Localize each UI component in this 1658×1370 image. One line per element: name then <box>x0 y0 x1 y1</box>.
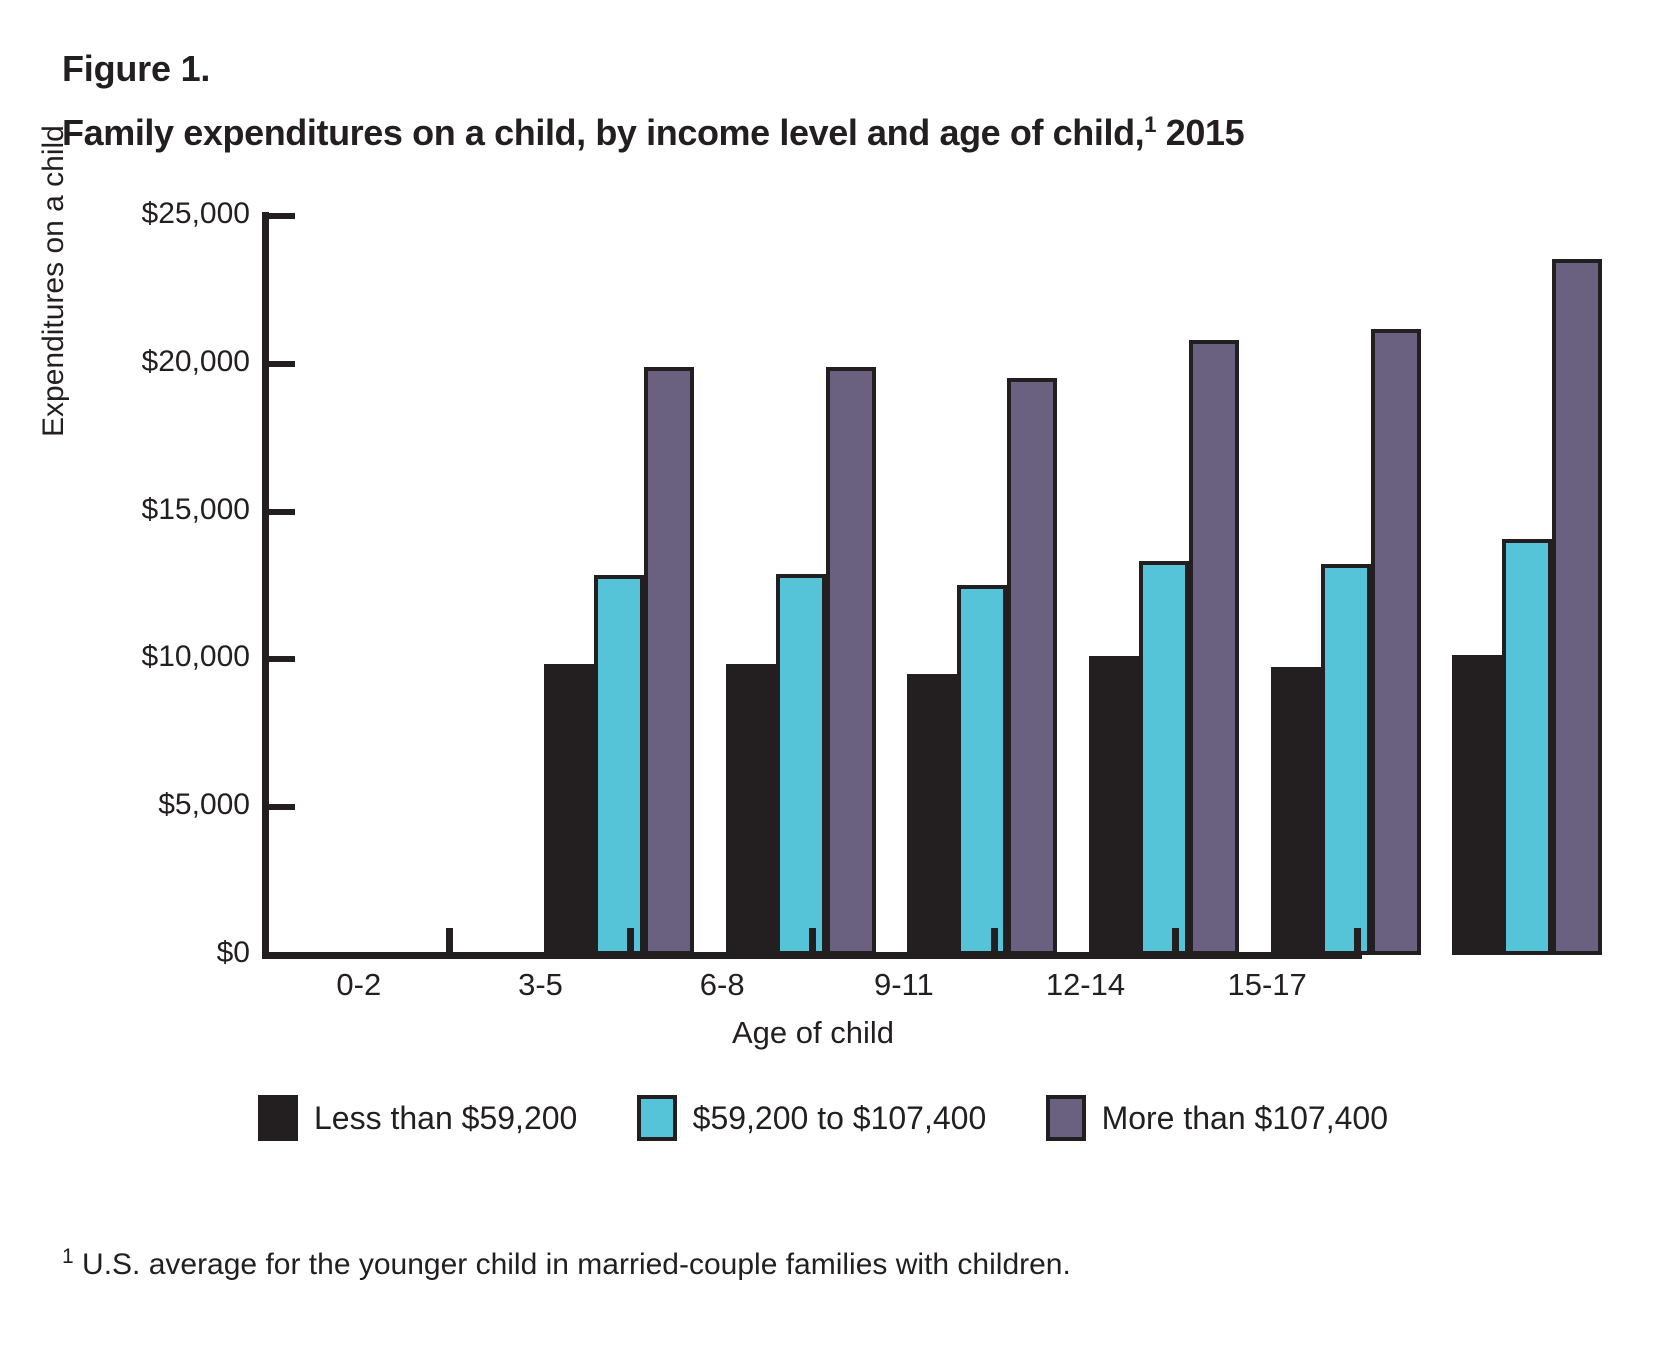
x-axis-group-label: 9-11 <box>813 967 995 1003</box>
footnote-text: U.S. average for the younger child in ma… <box>74 1248 1071 1281</box>
footnote-marker: 1 <box>62 1245 74 1268</box>
legend-item-label: $59,200 to $107,400 <box>693 1100 987 1137</box>
x-axis-tick <box>991 928 998 954</box>
bar <box>1189 340 1239 955</box>
bar <box>1371 329 1421 955</box>
y-axis-tick-label: $5,000 <box>110 788 250 822</box>
bar <box>726 664 776 955</box>
chart-legend: Less than $59,200$59,200 to $107,400More… <box>258 1088 1388 1148</box>
bar <box>644 367 694 955</box>
y-axis-tick-label: $20,000 <box>110 345 250 379</box>
legend-item: Less than $59,200 <box>258 1095 577 1141</box>
bar <box>1089 656 1139 955</box>
figure-footnote: 1 U.S. average for the younger child in … <box>62 1245 1071 1282</box>
x-axis-tick <box>1172 928 1179 954</box>
y-axis-tick <box>269 952 295 958</box>
bar <box>1502 539 1552 955</box>
y-axis-title: Expenditures on a child <box>37 397 71 437</box>
bar <box>1271 667 1321 955</box>
x-axis-tick <box>1354 928 1361 954</box>
bar <box>957 585 1007 955</box>
x-axis-tick <box>446 928 453 954</box>
x-axis-tick <box>809 928 816 954</box>
bar <box>1321 564 1371 955</box>
x-axis-title: Age of child <box>268 1015 1358 1051</box>
bar <box>544 664 594 955</box>
bar <box>594 575 644 955</box>
y-axis-tick <box>269 509 295 515</box>
bar <box>826 367 876 955</box>
bar-chart: $0$5,000$10,000$15,000$20,000$25,0000-23… <box>0 0 1658 1370</box>
y-axis-tick <box>269 804 295 810</box>
legend-item: More than $107,400 <box>1046 1095 1388 1141</box>
plot-area <box>268 216 1358 955</box>
y-axis-tick-label: $25,000 <box>110 197 250 231</box>
bar <box>776 574 826 955</box>
y-axis-tick <box>269 213 295 219</box>
legend-item-label: Less than $59,200 <box>314 1100 577 1137</box>
y-axis-tick <box>269 656 295 662</box>
y-axis-tick-label: $15,000 <box>110 493 250 527</box>
legend-item: $59,200 to $107,400 <box>637 1095 987 1141</box>
bar <box>907 674 957 955</box>
x-axis-group-label: 6-8 <box>631 967 813 1003</box>
bar <box>1552 259 1602 955</box>
legend-color-swatch <box>1046 1095 1086 1141</box>
legend-color-swatch <box>637 1095 677 1141</box>
legend-item-label: More than $107,400 <box>1102 1100 1388 1137</box>
bar <box>1139 561 1189 955</box>
legend-color-swatch <box>258 1095 298 1141</box>
x-axis-group-label: 15-17 <box>1176 967 1358 1003</box>
y-axis-tick <box>269 361 295 367</box>
x-axis-group-label: 3-5 <box>450 967 632 1003</box>
bar <box>1007 378 1057 955</box>
bar <box>1452 655 1502 955</box>
y-axis-tick-label: $0 <box>110 936 250 970</box>
y-axis-tick-label: $10,000 <box>110 640 250 674</box>
x-axis-group-label: 12-14 <box>995 967 1177 1003</box>
x-axis-tick <box>627 928 634 954</box>
x-axis-group-label: 0-2 <box>268 967 450 1003</box>
